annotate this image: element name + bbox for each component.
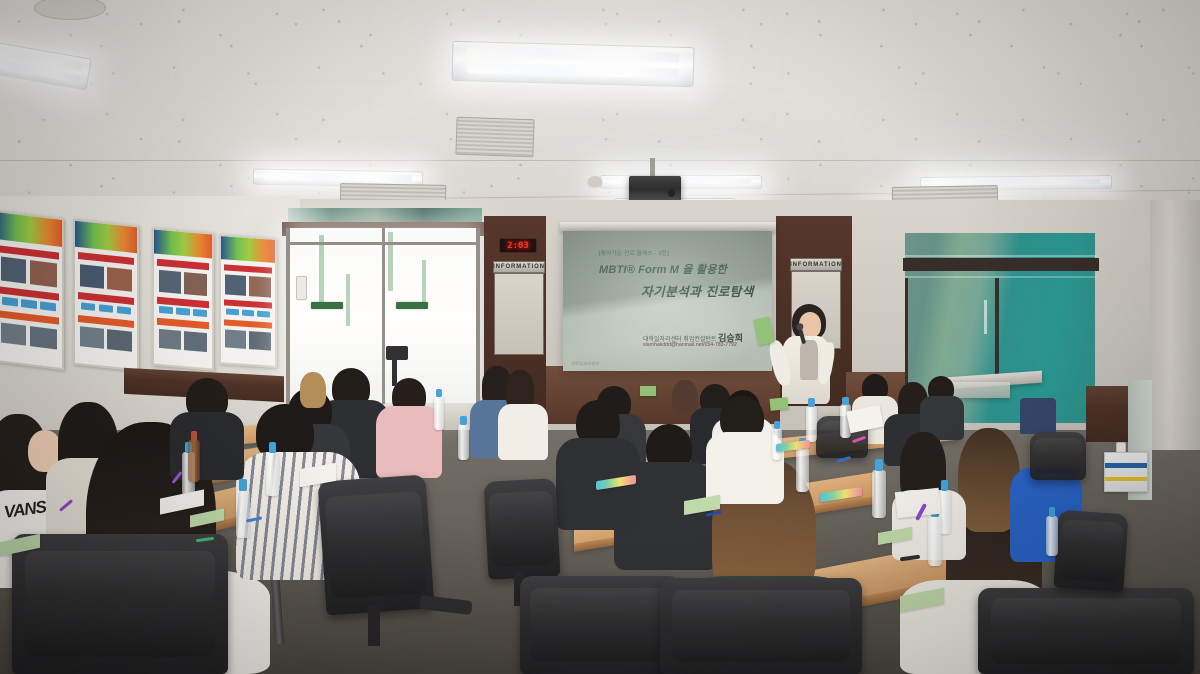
information-sign-right: INFORMATION — [790, 258, 842, 271]
stool[interactable] — [1020, 398, 1056, 434]
water-bottle[interactable] — [928, 516, 942, 566]
water-bottle[interactable] — [236, 490, 250, 538]
projection-screen: [찾아가는 진로 클래스 - 2탄] MBTI® Form M 을 활용한 자기… — [563, 231, 772, 371]
slide-contact: slamhakddd@hanmail.net/054-783-7792 — [643, 342, 737, 348]
partition-highlight — [905, 276, 1097, 278]
led-clock-display: 2:03 — [499, 238, 537, 253]
water-bottle[interactable] — [458, 424, 469, 460]
classroom-photo-scene: 2:03 INFORMATION INFORMATION [찾아가는 진로 클래… — [0, 0, 1200, 674]
career-poster — [0, 210, 64, 371]
partition-frame-top — [903, 258, 1099, 271]
career-poster — [152, 227, 214, 370]
water-bottle[interactable] — [266, 452, 279, 496]
notice-board-left — [494, 273, 544, 355]
water-bottle[interactable] — [434, 396, 444, 430]
attendee-torso — [498, 404, 548, 460]
chair[interactable] — [1053, 510, 1128, 593]
chair[interactable] — [317, 474, 434, 615]
slide-footer-logo: 대학일자리센터 — [571, 361, 600, 367]
window-mullion — [286, 228, 290, 404]
projector-lens — [668, 189, 675, 198]
attendee-torso — [376, 406, 442, 478]
smoke-detector — [588, 176, 602, 186]
ceiling-seam — [0, 160, 1200, 161]
water-bottle[interactable] — [872, 470, 886, 518]
projector-mount — [650, 158, 655, 176]
attendee-head — [672, 380, 698, 414]
chair[interactable] — [978, 588, 1194, 674]
information-sign-left: INFORMATION — [493, 261, 545, 273]
slide-kicker: [찾아가는 진로 클래스 - 2탄] — [599, 249, 669, 257]
door-handle[interactable] — [984, 300, 987, 334]
chair[interactable] — [483, 478, 560, 580]
slide-title-line2: 자기분석과 진로탐색 — [641, 281, 754, 300]
led-clock-value: 2:03 — [507, 241, 529, 251]
lectern-body — [952, 382, 1010, 398]
presenter-inner-top — [800, 340, 818, 380]
ceiling-light-fixture — [600, 175, 762, 189]
window-rail — [288, 242, 480, 245]
chair-post — [368, 606, 380, 646]
tripod-leg — [392, 360, 397, 386]
wall-pillar — [1150, 200, 1200, 450]
ceiling-light-fixture — [452, 41, 695, 87]
career-poster — [219, 234, 277, 368]
water-bottle[interactable] — [796, 448, 809, 492]
wall-switch[interactable] — [296, 276, 307, 300]
cola-bottle[interactable] — [188, 440, 200, 482]
chair[interactable] — [12, 534, 228, 674]
window-mullion — [476, 228, 480, 404]
water-bottle[interactable] — [806, 406, 817, 442]
partition-door-stile — [905, 278, 908, 384]
booklet[interactable] — [769, 397, 788, 411]
partition-highlight — [905, 255, 1097, 257]
chair[interactable] — [660, 578, 862, 674]
information-sign-right-label: INFORMATION — [790, 262, 842, 268]
information-sign-left-label: INFORMATION — [493, 264, 545, 270]
career-poster — [73, 219, 139, 372]
ac-vent — [455, 117, 534, 158]
chair[interactable] — [520, 576, 680, 674]
booklet[interactable] — [640, 386, 656, 396]
camera-body — [386, 346, 408, 360]
supply-box — [1104, 452, 1148, 492]
water-bottle[interactable] — [1046, 516, 1058, 556]
slide-title-line1: MBTI® Form M 을 활용한 — [599, 261, 727, 277]
partition-door-stile — [995, 278, 999, 384]
attendee-head — [300, 372, 326, 408]
ceiling-projector — [629, 176, 681, 202]
chair[interactable] — [1030, 432, 1086, 480]
window-mullion — [382, 228, 385, 404]
